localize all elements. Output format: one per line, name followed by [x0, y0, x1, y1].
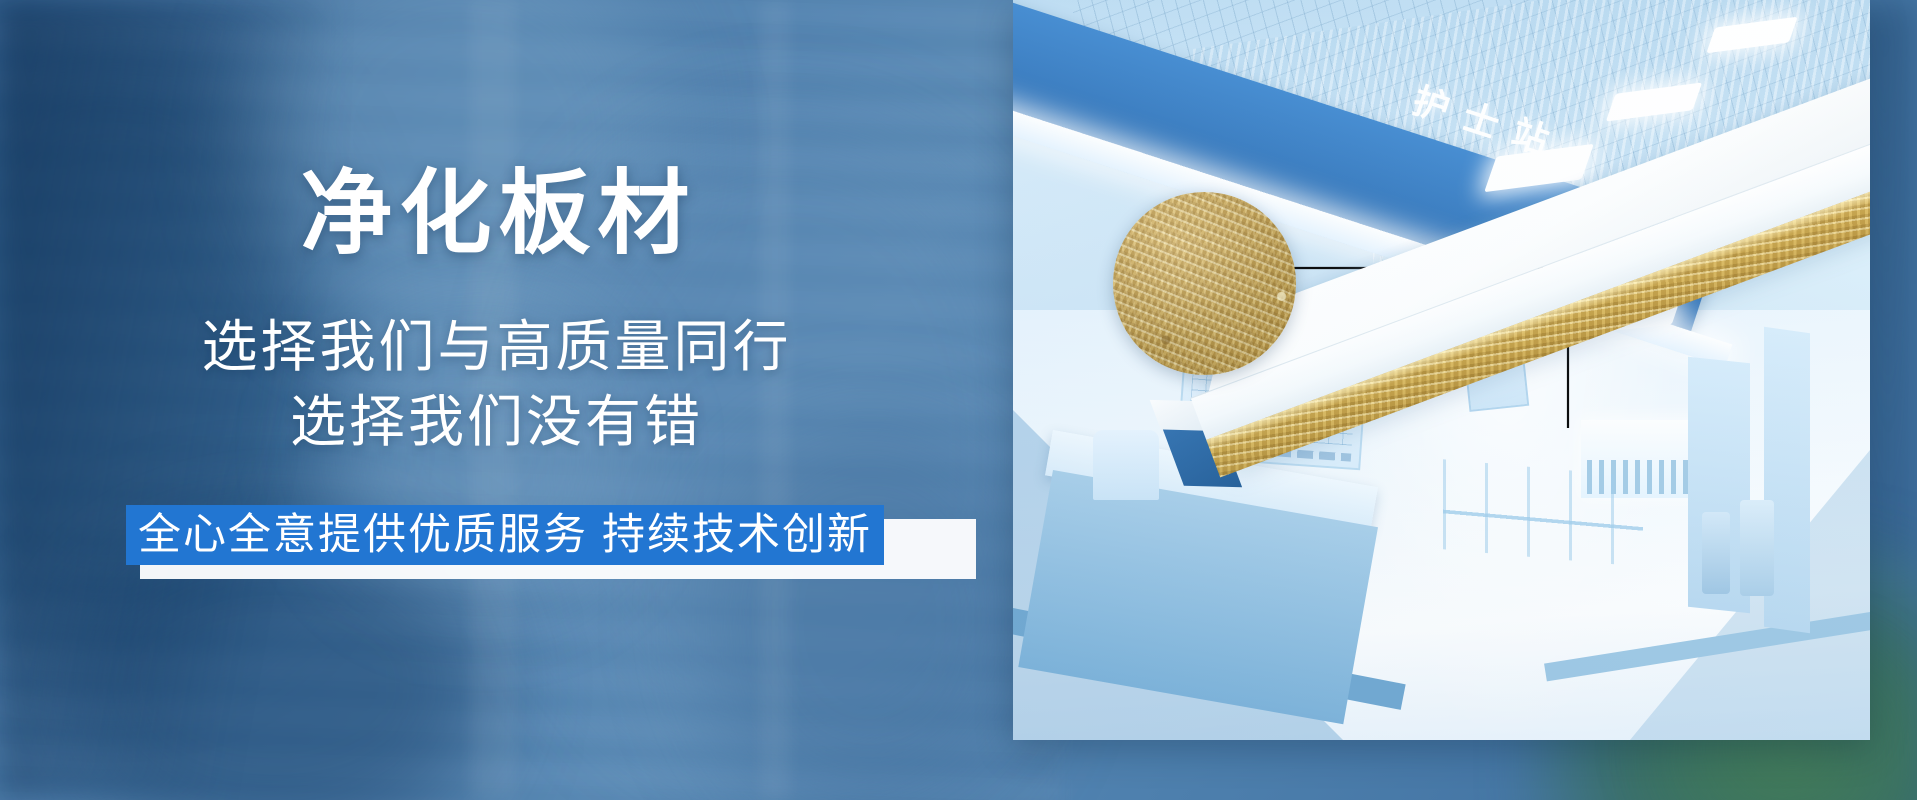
- rock-wool-fibers: [1113, 192, 1296, 375]
- hero-subtitle-line-1: 选择我们与高质量同行: [0, 317, 990, 377]
- hero-banner: 净化板材 选择我们与高质量同行 选择我们没有错 全心全意提供优质服务 持续技术创…: [0, 0, 1917, 800]
- chair: [1093, 430, 1159, 500]
- product-photo: 护士站 Nursing Station 医 嘱 表: [1013, 0, 1870, 740]
- hospital-corridor-scene: 护士站 Nursing Station 医 嘱 表: [1013, 0, 1870, 740]
- hero-headline: 净化板材: [0, 168, 990, 260]
- waste-bin: [1740, 500, 1774, 596]
- hero-tagline-wrapper: 全心全意提供优质服务 持续技术创新: [126, 505, 884, 565]
- waste-bin: [1702, 512, 1730, 594]
- hero-copy: 净化板材 选择我们与高质量同行 选择我们没有错 全心全意提供优质服务 持续技术创…: [0, 0, 990, 800]
- corridor-handrail: [1443, 459, 1643, 566]
- rock-wool-texture-closeup: [1113, 192, 1296, 375]
- hero-tagline: 全心全意提供优质服务 持续技术创新: [126, 505, 884, 565]
- hero-subtitle-line-2: 选择我们没有错: [0, 392, 990, 452]
